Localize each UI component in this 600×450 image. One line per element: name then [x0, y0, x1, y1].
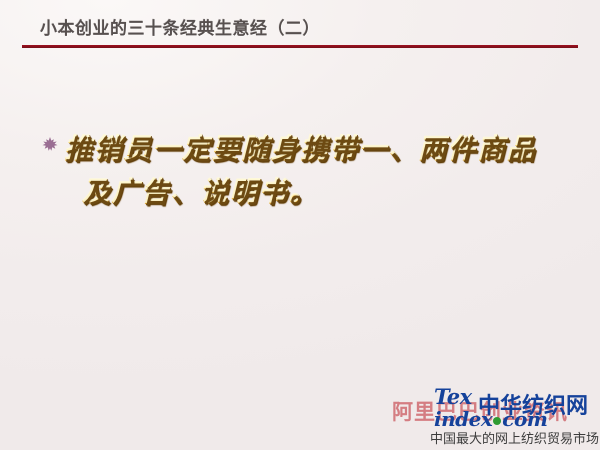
- bullet-text-block: 推销员一定要随身携带一、两件商品 及广告、说明书。: [64, 128, 536, 214]
- title-divider: [22, 45, 578, 48]
- bullet-line-2: 及广告、说明书。: [82, 171, 536, 214]
- title-block: 小本创业的三十条经典生意经（二）: [0, 14, 600, 54]
- page-title: 小本创业的三十条经典生意经（二）: [40, 14, 320, 39]
- slide-canvas: 小本创业的三十条经典生意经（二） 推销员一定要随身携带一、两件商品 及广告、说明…: [0, 0, 600, 450]
- maple-leaf-bullet-icon: [42, 136, 64, 164]
- bullet-line-1: 推销员一定要随身携带一、两件商品: [64, 134, 536, 165]
- content-body: 推销员一定要随身携带一、两件商品 及广告、说明书。: [42, 128, 582, 214]
- watermark-group: 阿里巴巴创业资讯 Tex indexcom 中华纺织网 中国最大的网上纺织贸易市…: [392, 386, 600, 450]
- watermark-tagline: 中国最大的网上纺织贸易市场: [430, 428, 599, 447]
- bullet-list-item: 推销员一定要随身携带一、两件商品 及广告、说明书。: [42, 128, 582, 214]
- site-name-watermark: 中华纺织网: [478, 388, 588, 420]
- texindex-wordmark-tex: Tex: [434, 384, 472, 409]
